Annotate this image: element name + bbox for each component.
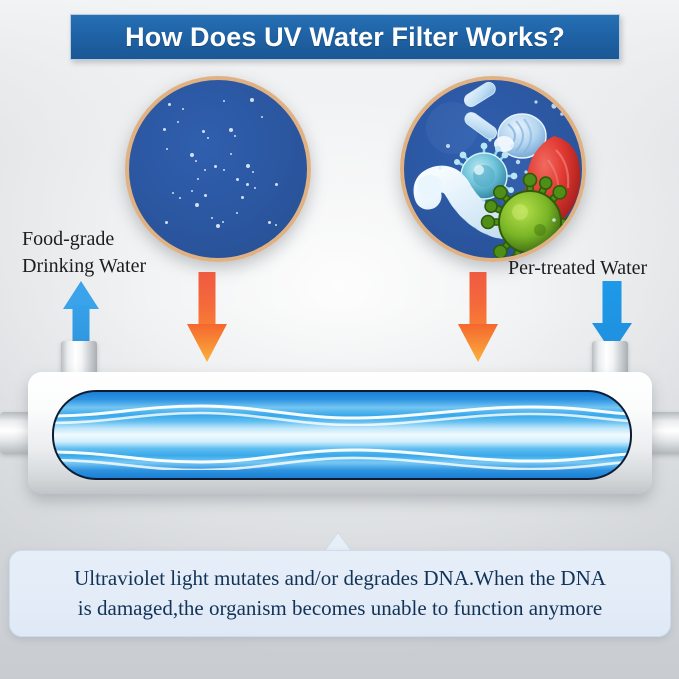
arrow-shaft bbox=[470, 272, 487, 326]
callout-line-2: is damaged,the organism becomes unable t… bbox=[78, 594, 602, 624]
callout-line-1: Ultraviolet light mutates and/or degrade… bbox=[74, 564, 606, 594]
label-pre-treated-water: Per-treated Water bbox=[508, 255, 647, 282]
callout-pointer-icon bbox=[325, 533, 351, 551]
arrow-shaft bbox=[603, 281, 622, 325]
title-banner: How Does UV Water Filter Works? bbox=[70, 14, 620, 60]
water-wave-top bbox=[52, 402, 632, 426]
infographic-canvas: How Does UV Water Filter Works? bbox=[0, 0, 679, 679]
arrow-head bbox=[187, 324, 227, 362]
uv-filter-housing bbox=[28, 372, 652, 494]
label-left-line1: Food-grade bbox=[22, 226, 146, 253]
label-food-grade-drinking-water: Food-grade Drinking Water bbox=[22, 226, 146, 280]
arrow-head bbox=[458, 324, 498, 362]
uv-chamber bbox=[52, 390, 632, 480]
clean-water-sample-circle bbox=[125, 76, 311, 262]
water-wave-bottom bbox=[52, 446, 632, 470]
arrow-shaft bbox=[199, 272, 216, 326]
uv-flow-arrow-icon-1 bbox=[187, 272, 227, 364]
page-title: How Does UV Water Filter Works? bbox=[125, 22, 565, 53]
uv-flow-arrow-icon-2 bbox=[458, 272, 498, 364]
label-left-line2: Drinking Water bbox=[22, 253, 146, 280]
rod-bacteria-icon bbox=[462, 80, 498, 109]
callout-box: Ultraviolet light mutates and/or degrade… bbox=[9, 550, 671, 637]
contaminated-water-sample-circle bbox=[400, 76, 586, 262]
